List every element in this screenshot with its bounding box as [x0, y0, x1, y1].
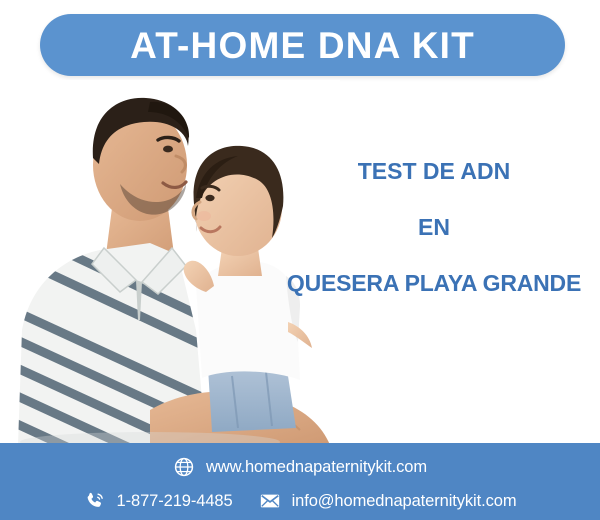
globe-icon [173, 456, 195, 478]
phone-text: 1-877-219-4485 [117, 493, 233, 510]
footer-contact-bar: www.homednapaternitykit.com 1-877-219-44… [0, 443, 600, 520]
envelope-icon [259, 490, 281, 512]
contact-website[interactable]: www.homednapaternitykit.com [173, 456, 427, 478]
phone-icon [84, 490, 106, 512]
footer-row-website: www.homednapaternitykit.com [0, 451, 600, 483]
page-title: AT-HOME DNA KIT [130, 27, 475, 64]
header-banner: AT-HOME DNA KIT [40, 14, 565, 76]
email-text: info@homednapaternitykit.com [292, 493, 517, 510]
footer-row-phone-email: 1-877-219-4485 info@homednapaternitykit.… [0, 485, 600, 517]
headline-line-1: TEST DE ADN [268, 160, 600, 183]
contact-phone[interactable]: 1-877-219-4485 [84, 490, 233, 512]
contact-email[interactable]: info@homednapaternitykit.com [259, 490, 517, 512]
website-text: www.homednapaternitykit.com [206, 459, 427, 476]
headline-block: TEST DE ADN EN QUESERA PLAYA GRANDE [268, 160, 600, 295]
poster-root: AT-HOME DNA KIT [0, 0, 600, 520]
headline-line-3: QUESERA PLAYA GRANDE [268, 272, 600, 295]
headline-line-2: EN [268, 216, 600, 239]
